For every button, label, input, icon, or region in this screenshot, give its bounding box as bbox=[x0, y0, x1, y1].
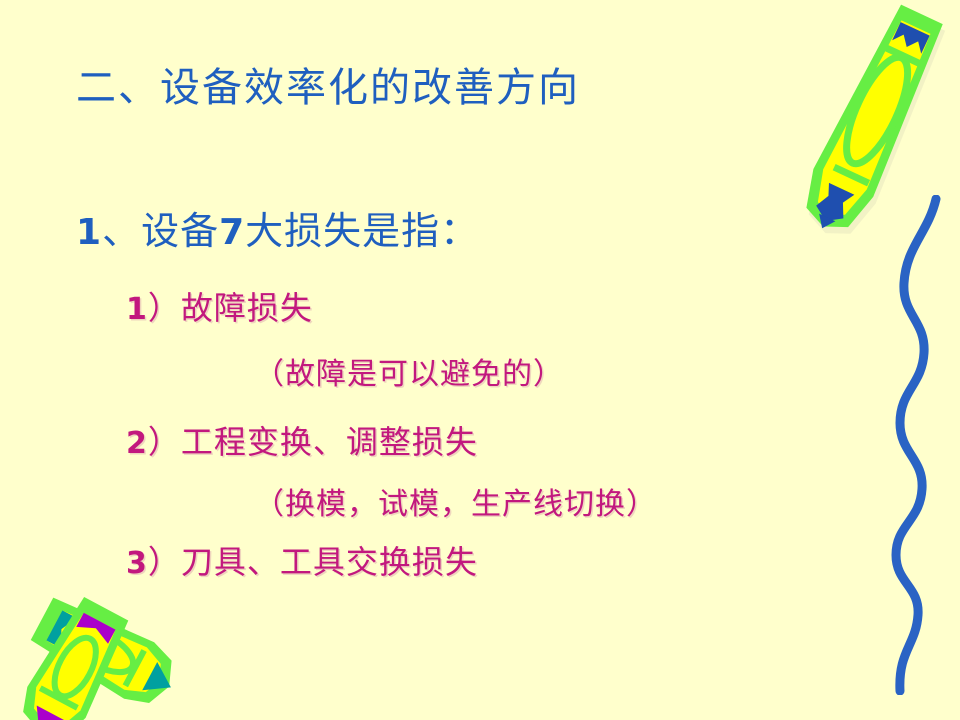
loss-item-2-bracket: ） bbox=[148, 423, 181, 461]
crayon-b-outline bbox=[11, 593, 135, 720]
loss-item-1-bracket: ） bbox=[148, 289, 181, 327]
loss-item-1: 1）故障损失 bbox=[126, 292, 313, 325]
page-title: 二、设备效率化的改善方向 bbox=[76, 68, 580, 108]
crayon-a-body bbox=[43, 604, 171, 702]
crayon-tip-point bbox=[814, 214, 835, 232]
section-heading-number: 1 bbox=[76, 212, 102, 253]
crayon-a-label-ring bbox=[65, 621, 140, 681]
crayon-band-upper bbox=[884, 44, 921, 66]
loss-item-3-label: 刀具、工具交换损失 bbox=[181, 543, 478, 581]
section-heading-inline-number: 7 bbox=[219, 212, 245, 253]
loss-note-2: （换模，试模，生产线切换） bbox=[254, 490, 657, 520]
crayon-b-tip bbox=[25, 705, 65, 720]
crayon-b-body bbox=[24, 609, 122, 720]
loss-note-1: （故障是可以避免的） bbox=[254, 360, 564, 390]
crayon-a-cap bbox=[46, 610, 76, 648]
crayon-a-tip bbox=[142, 662, 178, 702]
crayons-bottom-left-icon bbox=[0, 560, 240, 720]
loss-item-1-number: 1 bbox=[126, 292, 148, 327]
loss-item-2-label: 工程变换、调整损失 bbox=[181, 423, 478, 461]
crayon-body bbox=[806, 17, 937, 226]
section-heading: 1、设备7大损失是指： bbox=[76, 212, 479, 251]
crayon-band-lower bbox=[833, 164, 870, 186]
squiggle-path bbox=[896, 199, 936, 691]
crayon-a-band bbox=[123, 649, 147, 687]
crayon-b-band bbox=[39, 685, 79, 710]
crayon-b-cap bbox=[76, 613, 115, 644]
loss-item-3: 3）刀具、工具交换损失 bbox=[126, 546, 478, 579]
crayon-tip-arrow bbox=[812, 182, 854, 227]
slide-canvas: 二、设备效率化的改善方向 1、设备7大损失是指： 1）故障损失 （故障是可以避免… bbox=[0, 0, 960, 720]
crayon-outline bbox=[793, 0, 952, 240]
loss-item-2-number: 2 bbox=[126, 426, 148, 461]
crayon-shadow bbox=[796, 7, 955, 240]
crayon-b-label-ring bbox=[46, 631, 104, 703]
crayon-a-outline bbox=[27, 591, 184, 715]
loss-item-3-bracket: ） bbox=[148, 543, 181, 581]
loss-item-1-label: 故障损失 bbox=[181, 289, 313, 327]
squiggle-line-icon bbox=[880, 195, 960, 695]
section-heading-text: 、设备 bbox=[102, 209, 219, 253]
loss-item-2: 2）工程变换、调整损失 bbox=[126, 426, 478, 459]
crayon-top-right-icon bbox=[780, 0, 960, 240]
section-heading-suffix: 大损失是指： bbox=[245, 209, 479, 253]
crayon-cap-zigzag bbox=[892, 22, 929, 54]
crayon-label-ring bbox=[834, 49, 919, 171]
loss-item-3-number: 3 bbox=[126, 546, 148, 581]
